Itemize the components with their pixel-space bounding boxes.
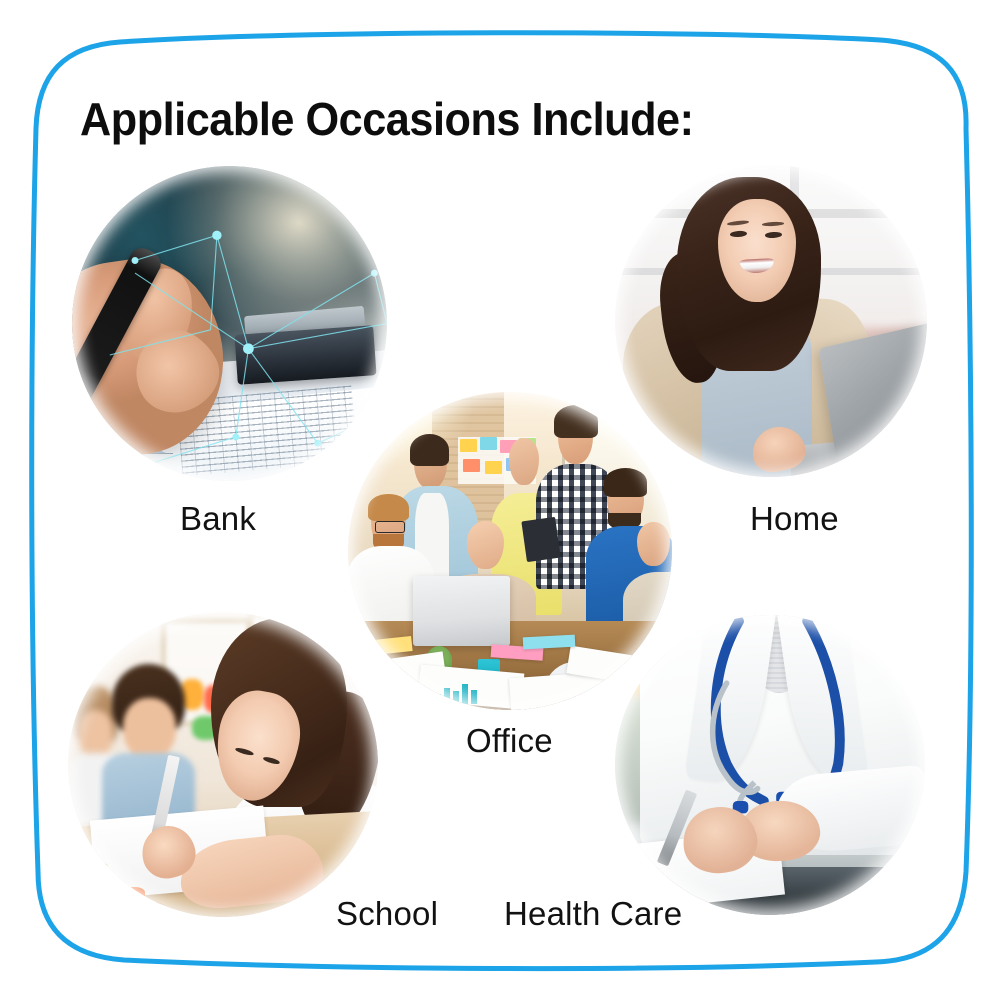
occasion-image-school [68,612,378,917]
occasion-label-health-care: Health Care [504,895,682,933]
occasion-image-bank [72,166,387,481]
occasion-label-home: Home [750,500,839,538]
occasion-label-bank: Bank [180,500,256,538]
page-title: Applicable Occasions Include: [80,92,694,146]
network-overlay-icon [72,166,387,481]
product-infographic-card: Applicable Occasions Include: [0,0,1000,1000]
occasion-image-health-care [615,615,925,915]
occasion-label-school: School [336,895,438,933]
occasion-label-office: Office [466,722,553,760]
